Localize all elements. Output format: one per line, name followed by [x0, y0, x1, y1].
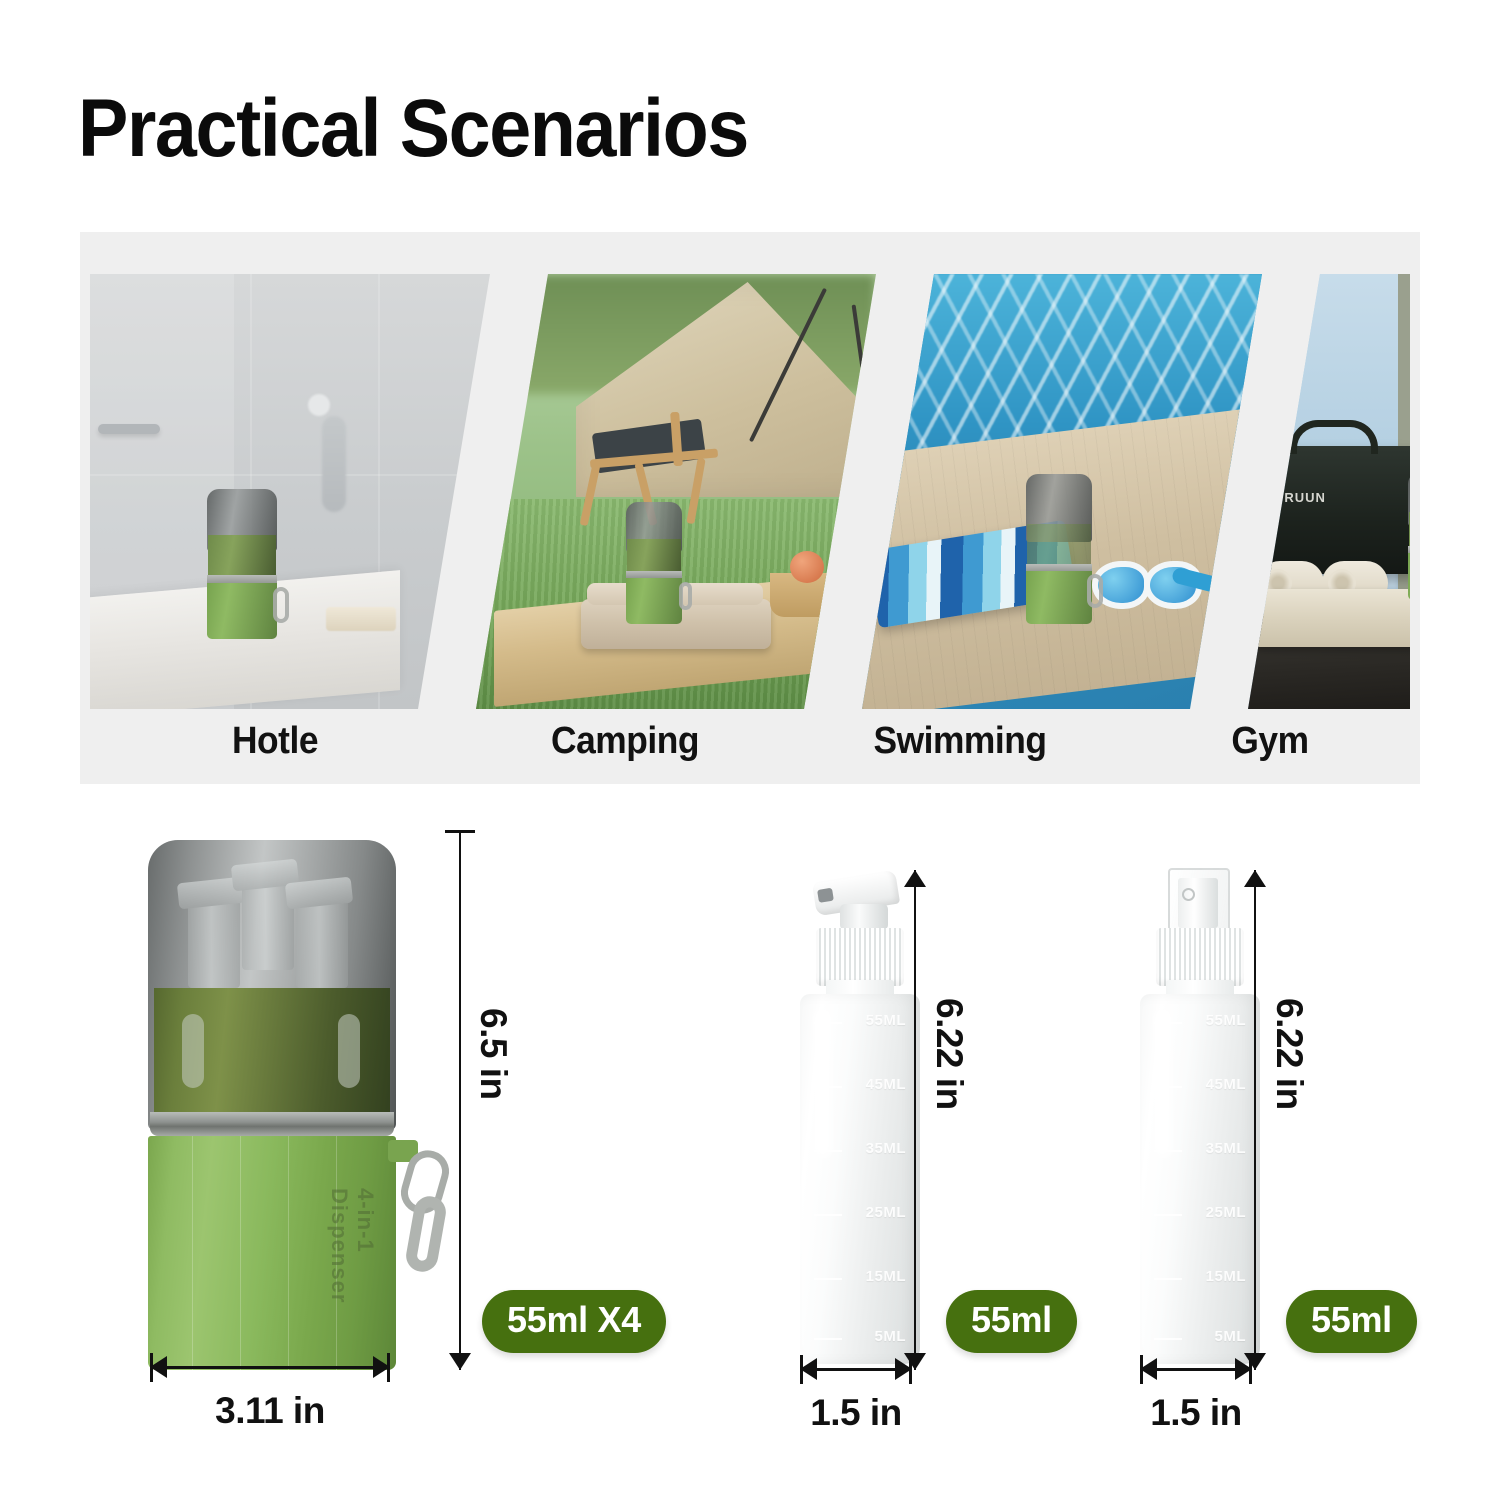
dim-line	[150, 1366, 390, 1369]
pump-stem	[840, 904, 888, 930]
dim-line	[1254, 870, 1256, 1370]
dim-arrow	[449, 1353, 471, 1370]
body-flute	[240, 1136, 241, 1370]
scenario-panel-hotel	[90, 274, 490, 709]
hotel-tile	[90, 474, 490, 476]
pump-head-cluster	[184, 862, 360, 1002]
mist-bottle-height-label: 6.22 in	[1268, 998, 1310, 1110]
dim-arrow	[895, 1358, 912, 1380]
mist-bottle-width-label: 1.5 in	[1140, 1392, 1252, 1434]
lotion-bottle-height-label: 6.22 in	[928, 998, 970, 1110]
spray-orifice-icon	[1182, 888, 1195, 901]
camping-apple	[790, 551, 824, 583]
product-thumbnail-camping	[626, 502, 682, 624]
graduation-tick	[814, 1214, 842, 1216]
dispenser-height-dimension	[440, 830, 480, 1370]
product-thumbnail-gym	[1408, 472, 1410, 600]
gym-bag-handle	[1290, 420, 1378, 454]
dispenser-seam-ring	[150, 1112, 394, 1136]
gym-background: DRUUN	[1248, 274, 1410, 709]
scenario-photo-strip: DRUUN	[90, 274, 1410, 709]
dispenser-olive-band	[154, 988, 390, 1114]
dim-arrow	[1235, 1358, 1252, 1380]
product-thumbnail-swimming	[1026, 474, 1092, 624]
lotion-bottle-width-dimension: 1.5 in	[800, 1352, 912, 1386]
scenario-labels: Hotle Camping Swimming Gym	[90, 706, 1410, 776]
hotel-knob	[308, 394, 330, 416]
dispenser-capacity-badge: 55ml X4	[482, 1290, 666, 1353]
body-flute	[192, 1136, 193, 1370]
dim-arrow	[373, 1356, 390, 1378]
spray-nozzle	[1178, 878, 1218, 928]
graduation-tick	[1154, 1150, 1182, 1152]
dim-line	[914, 870, 916, 1370]
graduation-tick	[814, 1150, 842, 1152]
scenario-panel-swimming	[862, 274, 1262, 709]
graduation-tick	[1154, 1338, 1182, 1340]
scenario-label-camping: Camping	[472, 720, 779, 763]
graduation-tick	[814, 1278, 842, 1280]
graduation-tick	[1154, 1022, 1182, 1024]
lotion-bottle-capacity-badge: 55ml	[946, 1290, 1077, 1353]
graduation-tick	[814, 1338, 842, 1340]
product-band	[1027, 524, 1091, 566]
product-band	[1409, 512, 1410, 548]
mist-bottle-capacity-badge: 55ml	[1286, 1290, 1417, 1353]
gym-bag-brand-label: DRUUN	[1274, 490, 1326, 505]
camping-background	[476, 274, 876, 709]
dim-arrow	[150, 1356, 167, 1378]
swim-goggles	[1092, 555, 1222, 617]
pump-head	[296, 900, 348, 988]
dispenser-window	[338, 1014, 360, 1088]
bottle-collar	[1156, 928, 1244, 986]
hotel-background	[90, 274, 490, 709]
mist-bottle-height-dimension	[1235, 870, 1275, 1370]
scenario-label-swimming: Swimming	[802, 720, 1118, 763]
folded-towels	[1252, 589, 1410, 647]
scenario-panel-camping	[476, 274, 876, 709]
graduation-tick	[814, 1022, 842, 1024]
page-title: Practical Scenarios	[78, 88, 748, 170]
specifications-area: 4-in-1 Dispenser 6.5 in 3.11 in 55ml X4	[0, 800, 1500, 1500]
product-body	[1026, 571, 1092, 624]
dispenser-window	[182, 1014, 204, 1088]
graduation-tick	[1154, 1086, 1182, 1088]
scenarios-block: DRUUN Hotle Camping S	[80, 232, 1420, 784]
scenario-label-hotel: Hotle	[103, 720, 447, 763]
bottle-collar	[816, 928, 904, 986]
lotion-bottle-width-label: 1.5 in	[800, 1392, 912, 1434]
dispenser-green-body: 4-in-1 Dispenser	[148, 1136, 396, 1370]
product-lanyard-loop	[1087, 574, 1103, 608]
body-flute	[288, 1136, 289, 1370]
dispenser-width-label: 3.11 in	[150, 1390, 390, 1432]
product-thumbnail-hotel	[207, 489, 277, 639]
chair-leg	[686, 458, 705, 524]
lotion-bottle-height-dimension	[895, 870, 935, 1370]
mist-bottle-width-dimension: 1.5 in	[1140, 1352, 1252, 1386]
hotel-grab-rail	[98, 424, 160, 434]
gym-bag: DRUUN	[1252, 446, 1410, 574]
graduation-tick	[1154, 1214, 1182, 1216]
hotel-shower-fixture	[322, 416, 346, 512]
dim-arrow	[800, 1358, 817, 1380]
product-band	[208, 535, 276, 577]
dim-arrow	[1140, 1358, 1157, 1380]
graduation-tick	[814, 1086, 842, 1088]
product-lanyard-loop	[273, 587, 289, 623]
pump-head	[188, 900, 240, 988]
scenario-label-gym: Gym	[1140, 720, 1400, 763]
product-lanyard-loop	[679, 582, 692, 610]
product-body	[207, 583, 277, 639]
scenario-panel-gym: DRUUN	[1248, 274, 1410, 709]
hotel-towel	[326, 607, 396, 631]
graduation-tick	[1154, 1278, 1182, 1280]
product-body	[1408, 553, 1410, 600]
product-body	[626, 578, 682, 624]
product-band	[627, 539, 681, 573]
infographic-page: Practical Scenarios	[0, 0, 1500, 1500]
dispenser-body-text: 4-in-1 Dispenser	[326, 1188, 378, 1370]
dispenser-width-dimension: 3.11 in	[150, 1350, 390, 1384]
product-dispenser-4in1: 4-in-1 Dispenser	[148, 840, 396, 1370]
dim-line	[459, 830, 461, 1370]
dispenser-height-label: 6.5 in	[472, 1008, 514, 1100]
